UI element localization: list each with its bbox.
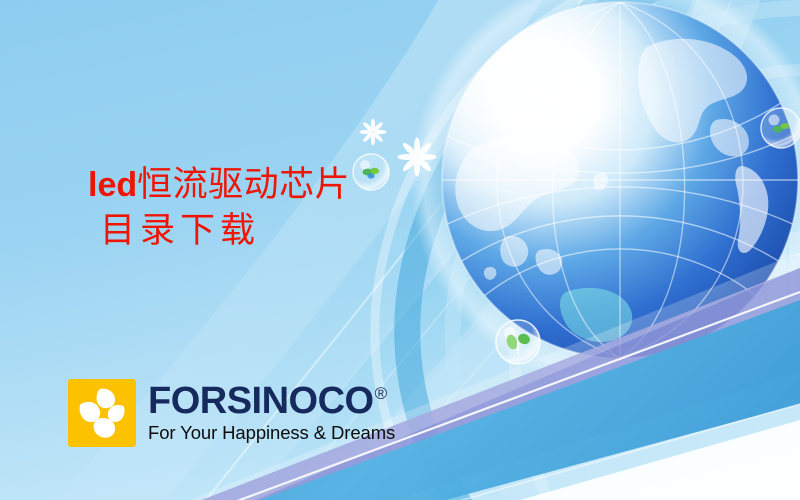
logo-mark — [68, 379, 136, 447]
registered-trademark-icon: ® — [375, 385, 388, 402]
brand-name: FORSINOCO — [148, 383, 374, 419]
bubble-edge — [761, 108, 800, 148]
banner-canvas: led恒流驱动芯片 目录下载 FORSINOCO ® — [0, 0, 800, 500]
headline-text: led恒流驱动芯片 目录下载 — [88, 162, 350, 253]
four-petal-flower-icon — [68, 379, 136, 447]
logo-text-block: FORSINOCO ® For Your Happiness & Dreams — [148, 379, 395, 444]
headline-line-1: led恒流驱动芯片 — [88, 162, 350, 208]
bubble-pinwheel — [353, 154, 389, 190]
headline-latin: led — [88, 166, 137, 204]
brand-tagline: For Your Happiness & Dreams — [148, 422, 395, 444]
headline-cjk: 恒流驱动芯片 — [137, 165, 350, 204]
headline-line-2: 目录下载 — [88, 208, 350, 254]
bubble-sprout — [496, 320, 540, 364]
company-logo[interactable]: FORSINOCO ® For Your Happiness & Dreams — [68, 379, 395, 447]
